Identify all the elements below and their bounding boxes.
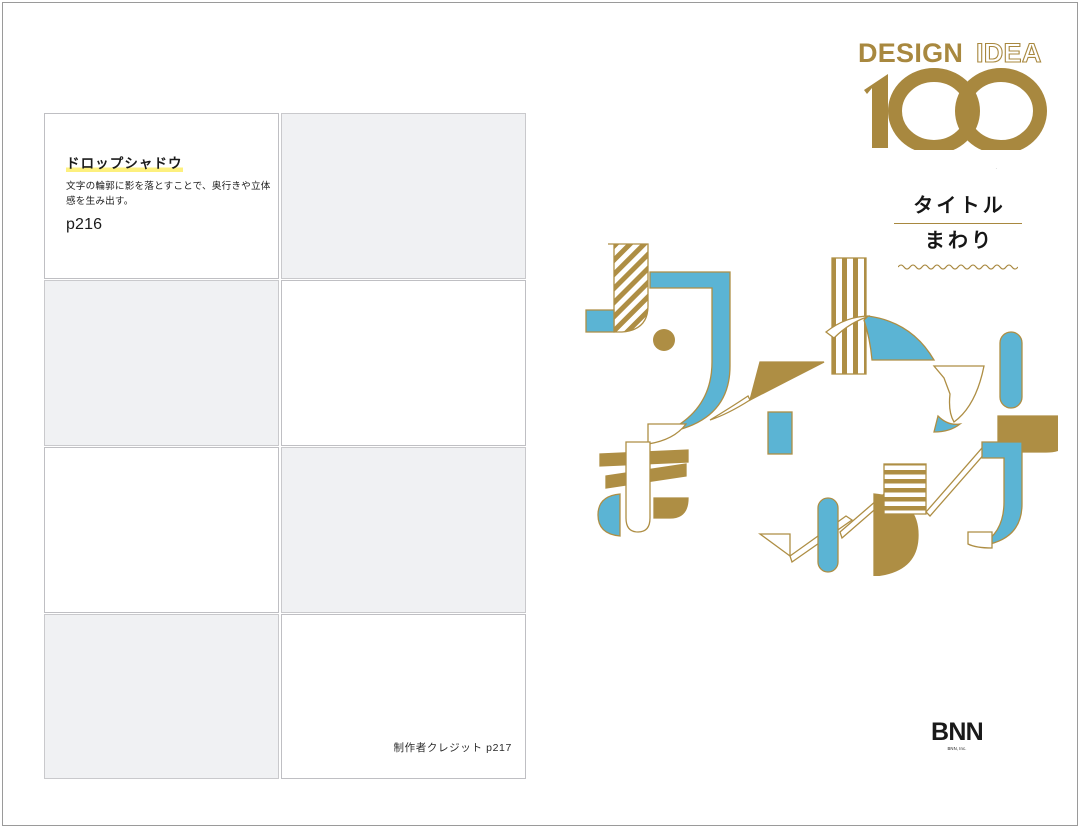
subtitle-line-1: タイトル <box>892 194 1024 219</box>
caption-body: 文字の輪郭に影を落とすことで、奥行きや立体感を生み出す。 <box>66 180 276 210</box>
credit-text: 制作者クレジット p217 <box>394 740 512 755</box>
logo-word-design: DESIGN <box>858 36 963 70</box>
arc-text-wrap: Title and Decoration <box>892 168 1024 194</box>
caption-page-reference: p216 <box>66 216 276 234</box>
hundred-glyph-icon <box>858 68 1054 150</box>
decorative-lettering-artwork <box>578 236 1058 576</box>
caption-title: ドロップシャドウ <box>66 156 183 172</box>
grid-cell-r2c1[interactable] <box>44 280 279 446</box>
caption-title-row: ドロップシャドウ <box>66 155 276 173</box>
grid-cell-r3c2[interactable] <box>281 447 526 613</box>
technique-caption: ドロップシャドウ 文字の輪郭に影を落とすことで、奥行きや立体感を生み出す。 p2… <box>66 155 276 234</box>
grid-cell-r1c2[interactable] <box>281 113 526 279</box>
credit-area: 制作者クレジット p217 <box>281 614 526 779</box>
arc-text-label: Title and Decoration <box>915 168 1002 171</box>
logo-wordmark: DESIGN IDEA <box>858 36 1054 70</box>
arc-text-icon: Title and Decoration <box>892 168 1024 194</box>
layout-grid: ドロップシャドウ 文字の輪郭に影を落とすことで、奥行きや立体感を生み出す。 p2… <box>44 113 526 779</box>
logo-number-100 <box>858 68 1054 150</box>
book-cover-page: ドロップシャドウ 文字の輪郭に影を落とすことで、奥行きや立体感を生み出す。 p2… <box>0 0 1082 830</box>
publisher-name: BNN <box>922 720 992 745</box>
svg-text:Title and Decoration: Title and Decoration <box>915 168 1002 171</box>
kana-artwork-icon <box>578 236 1058 576</box>
publisher-logo: BNN BNN, Inc. <box>922 720 992 751</box>
solid-underline <box>894 223 1022 224</box>
grid-cell-r4c1[interactable] <box>44 614 279 779</box>
grid-cell-r2c2[interactable] <box>281 280 526 446</box>
series-logo: DESIGN IDEA <box>858 36 1054 150</box>
publisher-subtitle: BNN, Inc. <box>921 746 992 751</box>
logo-word-idea: IDEA <box>976 36 1042 70</box>
grid-cell-r3c1[interactable] <box>44 447 279 613</box>
